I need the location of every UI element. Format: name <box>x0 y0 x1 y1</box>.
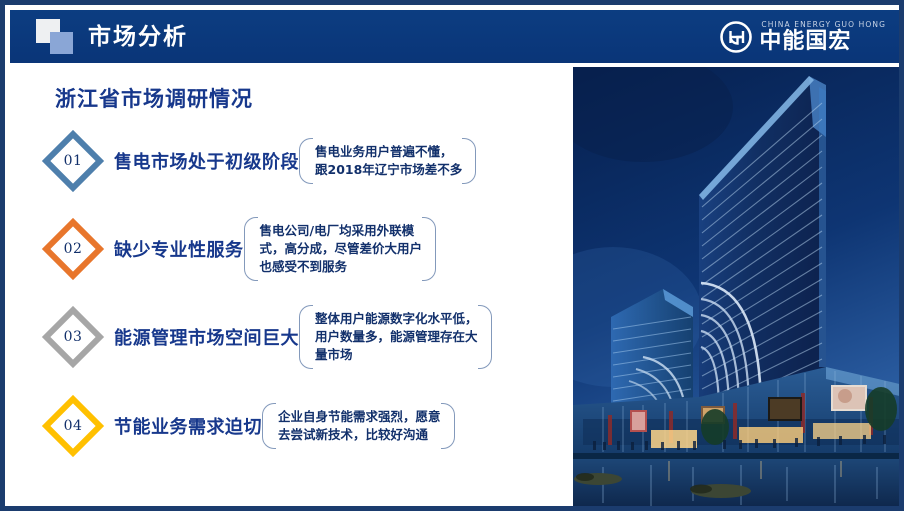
step-number: 02 <box>40 216 106 282</box>
step-badge: 01 <box>40 128 106 194</box>
header-decoration-squares <box>36 19 78 55</box>
list-item: 02 缺少专业性服务 售电公司/电厂均采用外联模 式，高分成，尽管差价大用户 也… <box>40 213 565 285</box>
step-badge: 03 <box>40 304 106 370</box>
page-title: 市场分析 <box>88 22 188 52</box>
company-logo: CHINA ENERGY GUO HONG 中能国宏 <box>719 18 886 56</box>
logo-english-name: CHINA ENERGY GUO HONG <box>761 21 886 29</box>
building-photo <box>573 67 904 511</box>
list-item: 03 能源管理市场空间巨大 整体用户能源数字化水平低， 用户数量多，能源管理存在… <box>40 301 565 373</box>
content-panel: 浙江省市场调研情况 01 售电市场处于初级阶段 售电业务用户普遍不懂， 跟201… <box>10 63 570 511</box>
item-heading: 缺少专业性服务 <box>114 236 244 262</box>
item-callout: 整体用户能源数字化水平低， 用户数量多，能源管理存在大 量市场 <box>299 304 492 370</box>
item-heading: 能源管理市场空间巨大 <box>114 324 299 350</box>
section-title: 浙江省市场调研情况 <box>55 83 253 113</box>
list-item: 04 节能业务需求迫切 企业自身节能需求强烈，愿意 去尝试新技术，比较好沟通 <box>40 390 565 462</box>
logo-chinese-name: 中能国宏 <box>759 31 886 53</box>
header-square-blue <box>50 32 73 54</box>
step-number: 04 <box>40 393 106 459</box>
item-callout: 企业自身节能需求强烈，愿意 去尝试新技术，比较好沟通 <box>262 402 455 450</box>
item-heading: 售电市场处于初级阶段 <box>114 148 299 174</box>
step-badge: 04 <box>40 393 106 459</box>
circle-gh-monogram-icon <box>719 20 753 54</box>
step-badge: 02 <box>40 216 106 282</box>
slide: 市场分析 CHINA ENERGY GUO HONG 中能国宏 浙江省市场调研情… <box>0 0 904 511</box>
slide-header: 市场分析 CHINA ENERGY GUO HONG 中能国宏 <box>10 10 904 63</box>
step-number: 03 <box>40 304 106 370</box>
list-item: 01 售电市场处于初级阶段 售电业务用户普遍不懂， 跟2018年辽宁市场差不多 <box>40 125 565 197</box>
step-number: 01 <box>40 128 106 194</box>
logo-text: CHINA ENERGY GUO HONG 中能国宏 <box>759 21 886 53</box>
item-callout: 售电公司/电厂均采用外联模 式，高分成，尽管差价大用户 也感受不到服务 <box>244 216 437 282</box>
building-night-render-illustration <box>573 67 904 511</box>
item-callout: 售电业务用户普遍不懂， 跟2018年辽宁市场差不多 <box>299 137 476 185</box>
item-heading: 节能业务需求迫切 <box>114 413 262 439</box>
